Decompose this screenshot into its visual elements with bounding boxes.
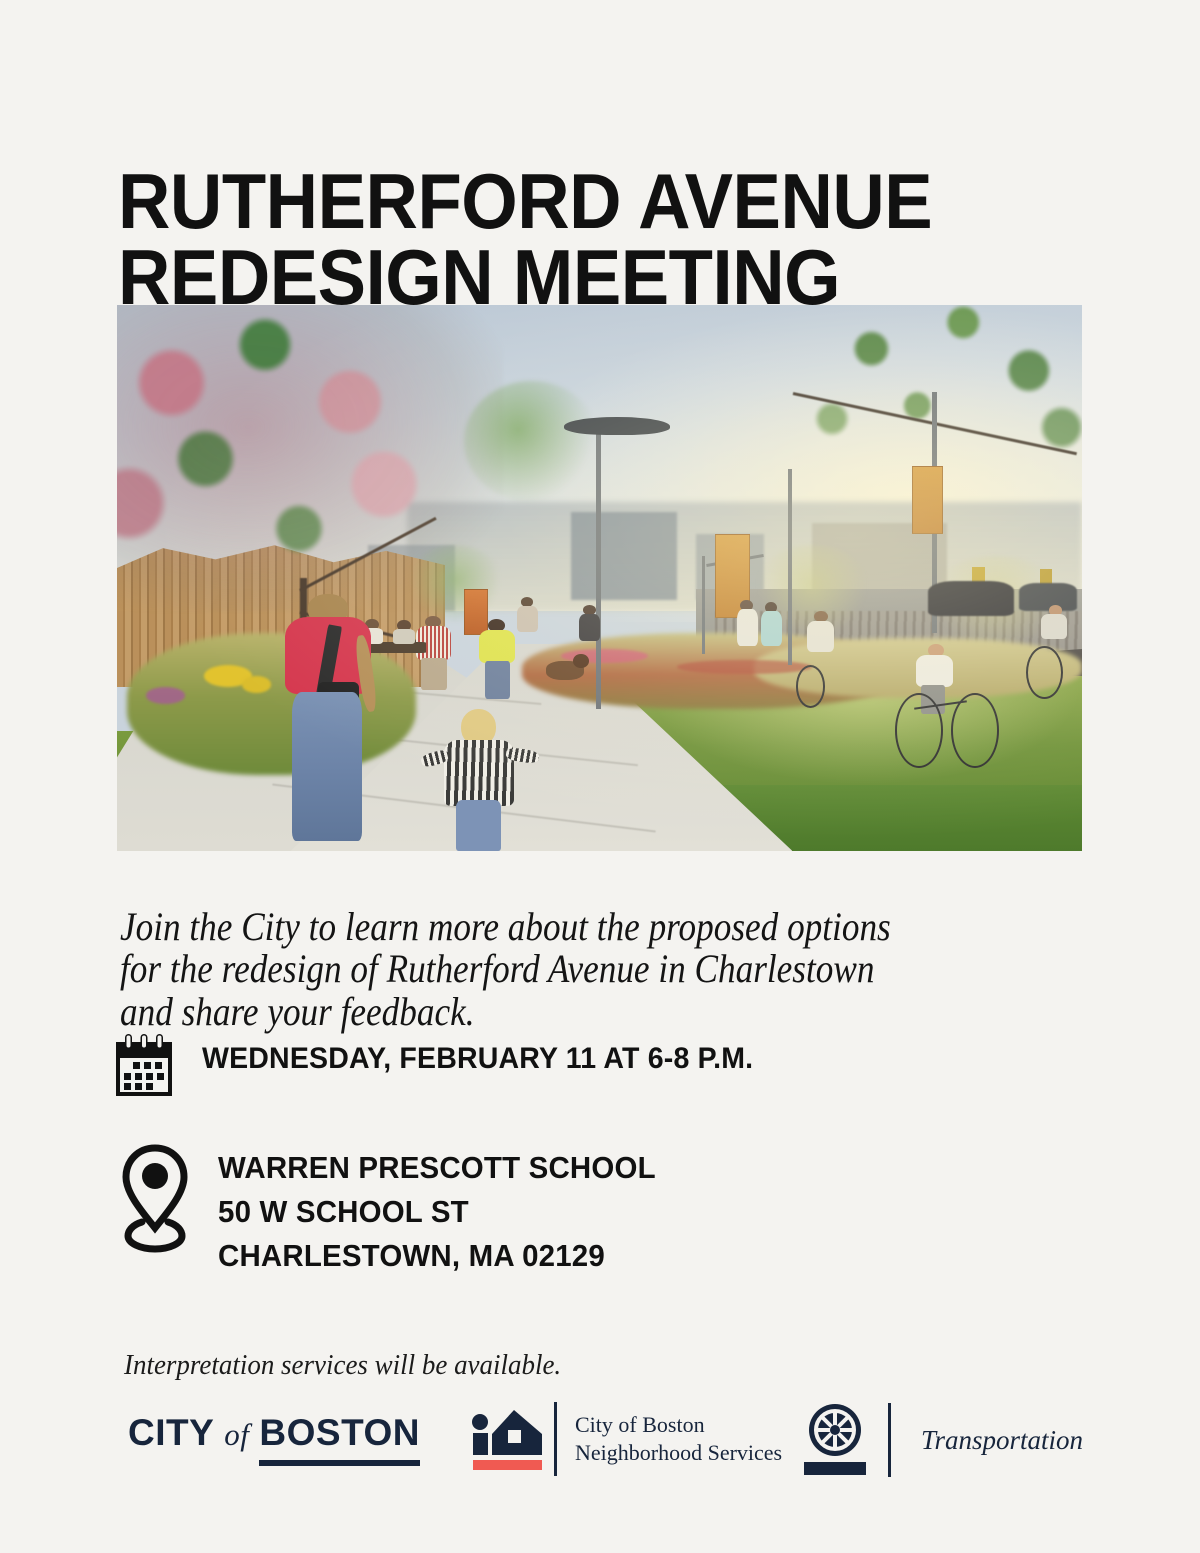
location-line-1: WARREN PRESCOTT SCHOOL xyxy=(218,1146,656,1190)
location-line-2: 50 W SCHOOL ST xyxy=(218,1190,656,1234)
page-title: RUTHERFORD AVENUE REDESIGN MEETING xyxy=(118,164,1011,315)
neighborhood-services-logo: City of Boston Neighborhood Services xyxy=(468,1400,782,1478)
city-of-boston-logo: CITY of BOSTON xyxy=(128,1412,420,1466)
transportation-label: Transportation xyxy=(921,1425,1083,1456)
child-jeans xyxy=(456,800,501,851)
pedestrian-yellow-legs xyxy=(485,661,510,698)
stroller-walker-body xyxy=(807,621,834,652)
house-and-person-icon xyxy=(468,1400,546,1478)
pedestrian-far-1-body xyxy=(579,614,600,641)
flower-purple xyxy=(146,687,185,703)
pedestrian-pair-body-1 xyxy=(737,609,758,646)
location-row: WARREN PRESCOTT SCHOOL 50 W SCHOOL ST CH… xyxy=(118,1142,679,1278)
pedestrian-yellow-torso xyxy=(479,630,515,663)
cyclist-2-torso xyxy=(1041,614,1067,639)
light-pole-main xyxy=(596,425,601,709)
hero-illustration xyxy=(117,305,1082,851)
luminaire-main xyxy=(564,417,670,436)
lead-paragraph: Join the City to learn more about the pr… xyxy=(120,906,894,1033)
poster-canvas: RUTHERFORD AVENUE REDESIGN MEETING xyxy=(0,0,1200,1553)
ns-text: City of Boston Neighborhood Services xyxy=(575,1411,782,1467)
title-line-1: RUTHERFORD AVENUE xyxy=(118,164,1011,240)
city-word: CITY xyxy=(128,1412,214,1454)
location-address: WARREN PRESCOTT SCHOOL 50 W SCHOOL ST CH… xyxy=(218,1142,656,1278)
flower-yellow-2 xyxy=(242,676,271,692)
transportation-divider xyxy=(888,1403,891,1477)
bicycle-2-wheel xyxy=(1026,646,1063,699)
wheel-icon xyxy=(796,1400,874,1480)
of-word: of xyxy=(224,1417,249,1453)
pedestrian-yellow-shirt xyxy=(474,619,522,717)
ns-line-2: Neighborhood Services xyxy=(575,1439,782,1467)
pedestrian-pair xyxy=(735,600,793,687)
street-tree-1 xyxy=(464,381,599,501)
pole-banner-2 xyxy=(912,466,943,534)
location-line-3: CHARLESTOWN, MA 02129 xyxy=(218,1234,656,1278)
transportation-logo: Transportation xyxy=(796,1400,1083,1480)
bicycle-wheel-front xyxy=(951,693,999,768)
footer-logos: CITY of BOSTON City of Boston Neighborho… xyxy=(0,1392,1200,1502)
dog-walking xyxy=(546,654,589,692)
stroller-wheel xyxy=(796,665,825,707)
woman-foreground xyxy=(271,594,387,851)
map-pin-icon xyxy=(118,1142,192,1263)
date-row: WEDNESDAY, FEBRUARY 11 AT 6-8 P.M. xyxy=(112,1030,782,1105)
woman-jeans xyxy=(292,692,361,841)
pedestrian-far-1 xyxy=(575,605,604,660)
cyclist-torso xyxy=(916,655,954,686)
street-tree-2 xyxy=(407,545,504,621)
hero-image xyxy=(117,305,1082,851)
ns-divider xyxy=(554,1402,557,1476)
meeting-date-text: WEDNESDAY, FEBRUARY 11 AT 6-8 P.M. xyxy=(202,1030,753,1076)
child-striped-shirt xyxy=(444,740,514,805)
calendar-icon xyxy=(112,1030,176,1105)
child-foreground xyxy=(416,709,541,851)
dog-head xyxy=(573,654,589,668)
pedestrian-pair-body-2 xyxy=(761,611,782,646)
ns-line-1: City of Boston xyxy=(575,1411,782,1439)
street-light-pole xyxy=(702,556,705,654)
bench-sitter-body-2 xyxy=(393,629,415,644)
boston-word: BOSTON xyxy=(259,1412,420,1466)
car-1 xyxy=(928,581,1015,616)
interpretation-note: Interpretation services will be availabl… xyxy=(124,1349,561,1382)
building-1 xyxy=(571,512,677,599)
